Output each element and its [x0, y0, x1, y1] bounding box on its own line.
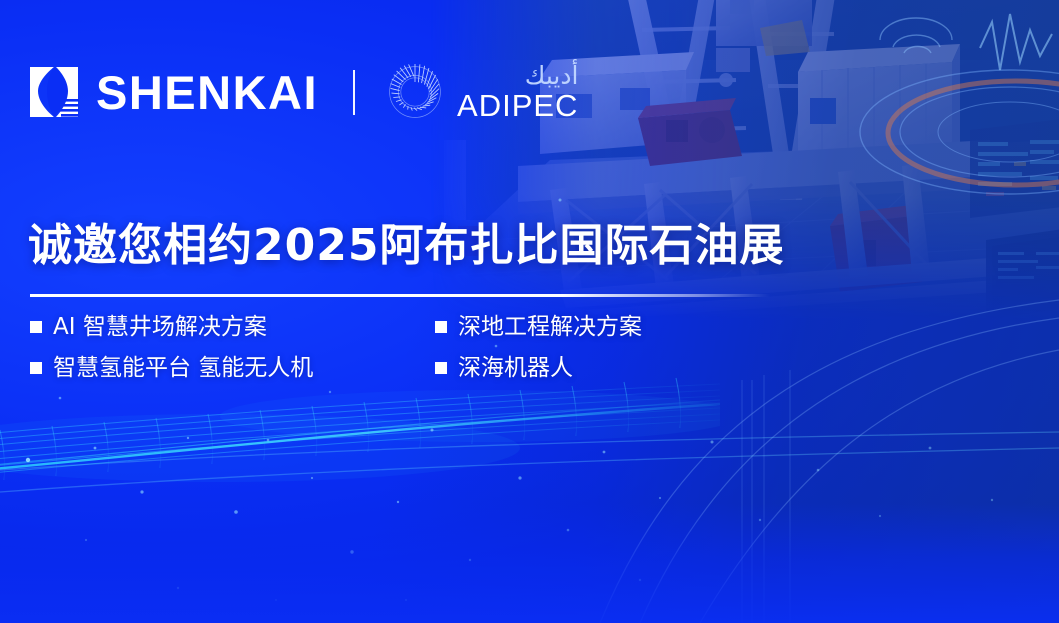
bullet-square-icon: [30, 362, 42, 374]
feature-list: AI 智慧井场解决方案 深地工程解决方案 智慧氢能平台 氢能无人机 深海机器人: [30, 313, 730, 383]
shenkai-wordmark: SHENKAI: [96, 69, 318, 116]
list-item-label: AI 智慧井场解决方案: [53, 313, 267, 342]
list-item: 智慧氢能平台 氢能无人机: [30, 354, 435, 383]
banner-content: SHENKAI: [0, 0, 1059, 623]
adipec-logo: أديبك ADIPEC: [385, 62, 578, 122]
adipec-radial-burst-icon: [385, 62, 445, 122]
headline-divider-rule: [30, 294, 770, 297]
list-item-label: 智慧氢能平台 氢能无人机: [53, 354, 313, 383]
bullet-square-icon: [435, 321, 447, 333]
bullet-square-icon: [30, 321, 42, 333]
list-item: AI 智慧井场解决方案: [30, 313, 435, 342]
adipec-arabic-wordmark: أديبك: [457, 63, 578, 88]
list-item-label: 深海机器人: [458, 354, 573, 383]
list-item: 深海机器人: [435, 354, 730, 383]
list-item: 深地工程解决方案: [435, 313, 730, 342]
logo-row: SHENKAI: [28, 62, 578, 122]
adipec-text-block: أديبك ADIPEC: [457, 63, 578, 121]
adipec-latin-wordmark: ADIPEC: [457, 90, 578, 121]
list-item-label: 深地工程解决方案: [458, 313, 642, 342]
headline: 诚邀您相约2025阿布扎比国际石油展: [28, 222, 784, 270]
adipec-promo-banner: SHENKAI: [0, 0, 1059, 623]
shenkai-logo-mark: [28, 63, 80, 121]
bullet-square-icon: [435, 362, 447, 374]
brand-divider: [353, 70, 355, 115]
